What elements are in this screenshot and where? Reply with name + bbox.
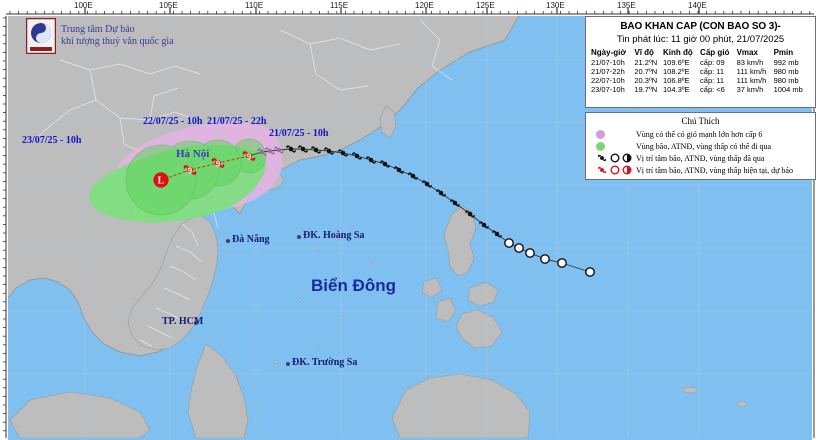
forecast-col-header: Pmin bbox=[774, 48, 810, 58]
forecast-cell-grade: cấp: 11 bbox=[700, 76, 737, 85]
forecast-cell-grade: cấp: 11 bbox=[700, 67, 737, 76]
svg-text:9: 9 bbox=[188, 166, 193, 175]
legend-item: Vùng có thể có gió mạnh lớn hơn cấp 6 bbox=[590, 128, 811, 140]
green-circle-icon bbox=[596, 142, 605, 151]
legend-item: Vị trí tâm bão, ATNĐ, vùng thấp đã qua bbox=[590, 152, 811, 164]
forecast-cell-pmin: 980 mb bbox=[774, 76, 810, 85]
bulletin-issue-time: Tin phát lúc: 11 giờ 00 phút, 21/07/2025 bbox=[591, 34, 810, 45]
sea-name-label: Biển Đông bbox=[311, 276, 396, 296]
track-point-depression bbox=[515, 244, 523, 252]
forecast-cell-datetime: 23/07-10h bbox=[591, 85, 634, 94]
city-marker bbox=[297, 235, 301, 239]
purple-circle-icon bbox=[596, 130, 605, 139]
lon-tick-120E: 120E bbox=[415, 1, 434, 10]
legend-item: Vị trí tâm bão, ATNĐ, vùng thấp hiện tại… bbox=[590, 164, 811, 176]
legend-panel: Chú Thích Vùng có thể có gió mạnh lớn hơ… bbox=[585, 112, 816, 180]
lon-tick-125E: 125E bbox=[476, 1, 495, 10]
legend-item-text: Vị trí tâm bão, ATNĐ, vùng thấp hiện tại… bbox=[636, 166, 793, 175]
forecast-row: 23/07-10h19.7ºN104.3ºEcấp: <637 km/h1004… bbox=[591, 85, 810, 94]
forecast-cell-vmax: 111 km/h bbox=[737, 67, 774, 76]
forecast-row: 22/07-10h20.3ºN106.8ºEcấp: 11111 km/h980… bbox=[591, 76, 810, 85]
forecast-cell-pmin: 992 mb bbox=[774, 58, 810, 67]
red-cyclone-icons bbox=[590, 164, 636, 176]
red-cyclone-icons bbox=[596, 164, 636, 176]
city-label: ĐK. Trường Sa bbox=[292, 357, 357, 368]
forecast-col-header: Vĩ độ bbox=[634, 48, 663, 58]
track-point-depression bbox=[558, 259, 566, 267]
agency-line-2: khí tượng thuỷ văn quốc gia bbox=[61, 36, 174, 48]
city-label: TP. HCM bbox=[162, 316, 203, 327]
legend-title: Chú Thích bbox=[590, 116, 811, 126]
forecast-time-label: 23/07/25 - 10h bbox=[22, 135, 81, 146]
legend-item-text: Vùng bão, ATNĐ, vùng thấp có thể đi qua bbox=[636, 142, 771, 151]
track-point-depression bbox=[505, 239, 513, 247]
forecast-cell-datetime: 22/07-10h bbox=[591, 76, 634, 85]
forecast-row: 21/07-10h21.2ºN109.6ºEcấp: 0983 km/h992 … bbox=[591, 58, 810, 67]
forecast-table: Ngày-giờVĩ độKinh độCấp gióVmaxPmin 21/0… bbox=[591, 48, 810, 94]
forecast-cell-pmin: 1004 mb bbox=[774, 85, 810, 94]
lon-tick-135E: 135E bbox=[617, 1, 636, 10]
forecast-col-header: Cấp gió bbox=[700, 48, 737, 58]
city-marker bbox=[226, 239, 230, 243]
forecast-cell-grade: cấp: 09 bbox=[700, 58, 737, 67]
forecast-cell-pmin: 980 mb bbox=[774, 67, 810, 76]
forecast-row: 21/07-22h20.7ºN108.2ºEcấp: 11111 km/h980… bbox=[591, 67, 810, 76]
latitude-axis bbox=[0, 0, 8, 440]
city-label: Đà Nẵng bbox=[232, 234, 270, 245]
forecast-col-header: Vmax bbox=[737, 48, 774, 58]
forecast-col-header: Ngày-giờ bbox=[591, 48, 634, 58]
nchmf-logo-icon bbox=[26, 18, 56, 54]
forecast-table-body: 21/07-10h21.2ºN109.6ºEcấp: 0983 km/h992 … bbox=[591, 58, 810, 94]
black-cyclone-icons bbox=[596, 152, 636, 164]
legend-item-text: Vị trí tâm bão, ATNĐ, vùng thấp đã qua bbox=[636, 154, 764, 163]
lon-tick-140E: 140E bbox=[688, 1, 707, 10]
agency-header: Trung tâm Dự báo khí tượng thuỷ văn quốc… bbox=[26, 18, 174, 54]
track-point-depression bbox=[541, 255, 549, 263]
forecast-cell-grade: cấp: <6 bbox=[700, 85, 737, 94]
forecast-time-label: 21/07/25 - 22h bbox=[207, 116, 266, 127]
forecast-cell-vmax: 111 km/h bbox=[737, 76, 774, 85]
forecast-time-label: 21/07/25 - 10h bbox=[269, 128, 328, 139]
lon-tick-105E: 105E bbox=[159, 1, 178, 10]
purple-circle-icon bbox=[590, 130, 636, 139]
lon-tick-100E: 100E bbox=[74, 1, 93, 10]
green-circle-icon bbox=[590, 142, 636, 151]
forecast-cell-lon: 104.3ºE bbox=[663, 85, 700, 94]
forecast-table-header: Ngày-giờVĩ độKinh độCấp gióVmaxPmin bbox=[591, 48, 810, 58]
storm-bulletin-panel: BAO KHAN CAP (CON BAO SO 3)- Tin phát lú… bbox=[585, 16, 816, 108]
forecast-cell-vmax: 37 km/h bbox=[737, 85, 774, 94]
forecast-col-header: Kinh độ bbox=[663, 48, 700, 58]
forecast-cell-lat: 21.2ºN bbox=[634, 58, 663, 67]
track-point-low-pressure: L bbox=[153, 172, 168, 187]
forecast-cell-lat: 19.7ºN bbox=[634, 85, 663, 94]
city-label: ĐK. Hoàng Sa bbox=[303, 230, 364, 241]
lon-tick-115E: 115E bbox=[330, 1, 348, 10]
lon-tick-110E: 110E bbox=[245, 1, 263, 10]
track-point-depression bbox=[586, 268, 594, 276]
forecast-cell-lat: 20.3ºN bbox=[634, 76, 663, 85]
bulletin-title: BAO KHAN CAP (CON BAO SO 3)- bbox=[591, 21, 810, 32]
forecast-cell-datetime: 21/07-10h bbox=[591, 58, 634, 67]
legend-item-text: Vùng có thể có gió mạnh lớn hơn cấp 6 bbox=[636, 130, 762, 139]
city-label: Hà Nội bbox=[176, 148, 209, 160]
legend-item: Vùng bão, ATNĐ, vùng thấp có thể đi qua bbox=[590, 140, 811, 152]
forecast-cell-vmax: 83 km/h bbox=[737, 58, 774, 67]
svg-text:9: 9 bbox=[247, 152, 252, 161]
svg-text:L: L bbox=[158, 176, 165, 187]
weather-map: 999L 100E105E110E115E120E125E130E135E140… bbox=[0, 0, 820, 440]
forecast-time-label: 22/07/25 - 10h bbox=[143, 116, 202, 127]
forecast-cell-lon: 106.8ºE bbox=[663, 76, 700, 85]
agency-line-1: Trung tâm Dự báo bbox=[61, 24, 174, 36]
forecast-cell-lon: 108.2ºE bbox=[663, 67, 700, 76]
lon-tick-130E: 130E bbox=[546, 1, 565, 10]
forecast-cell-lon: 109.6ºE bbox=[663, 58, 700, 67]
legend-rows: Vùng có thể có gió mạnh lớn hơn cấp 6Vùn… bbox=[590, 128, 811, 176]
city-marker bbox=[286, 362, 290, 366]
svg-text:9: 9 bbox=[216, 159, 221, 168]
track-point-depression bbox=[526, 249, 534, 257]
forecast-cell-lat: 20.7ºN bbox=[634, 67, 663, 76]
black-cyclone-icons bbox=[590, 152, 636, 164]
forecast-cell-datetime: 21/07-22h bbox=[591, 67, 634, 76]
